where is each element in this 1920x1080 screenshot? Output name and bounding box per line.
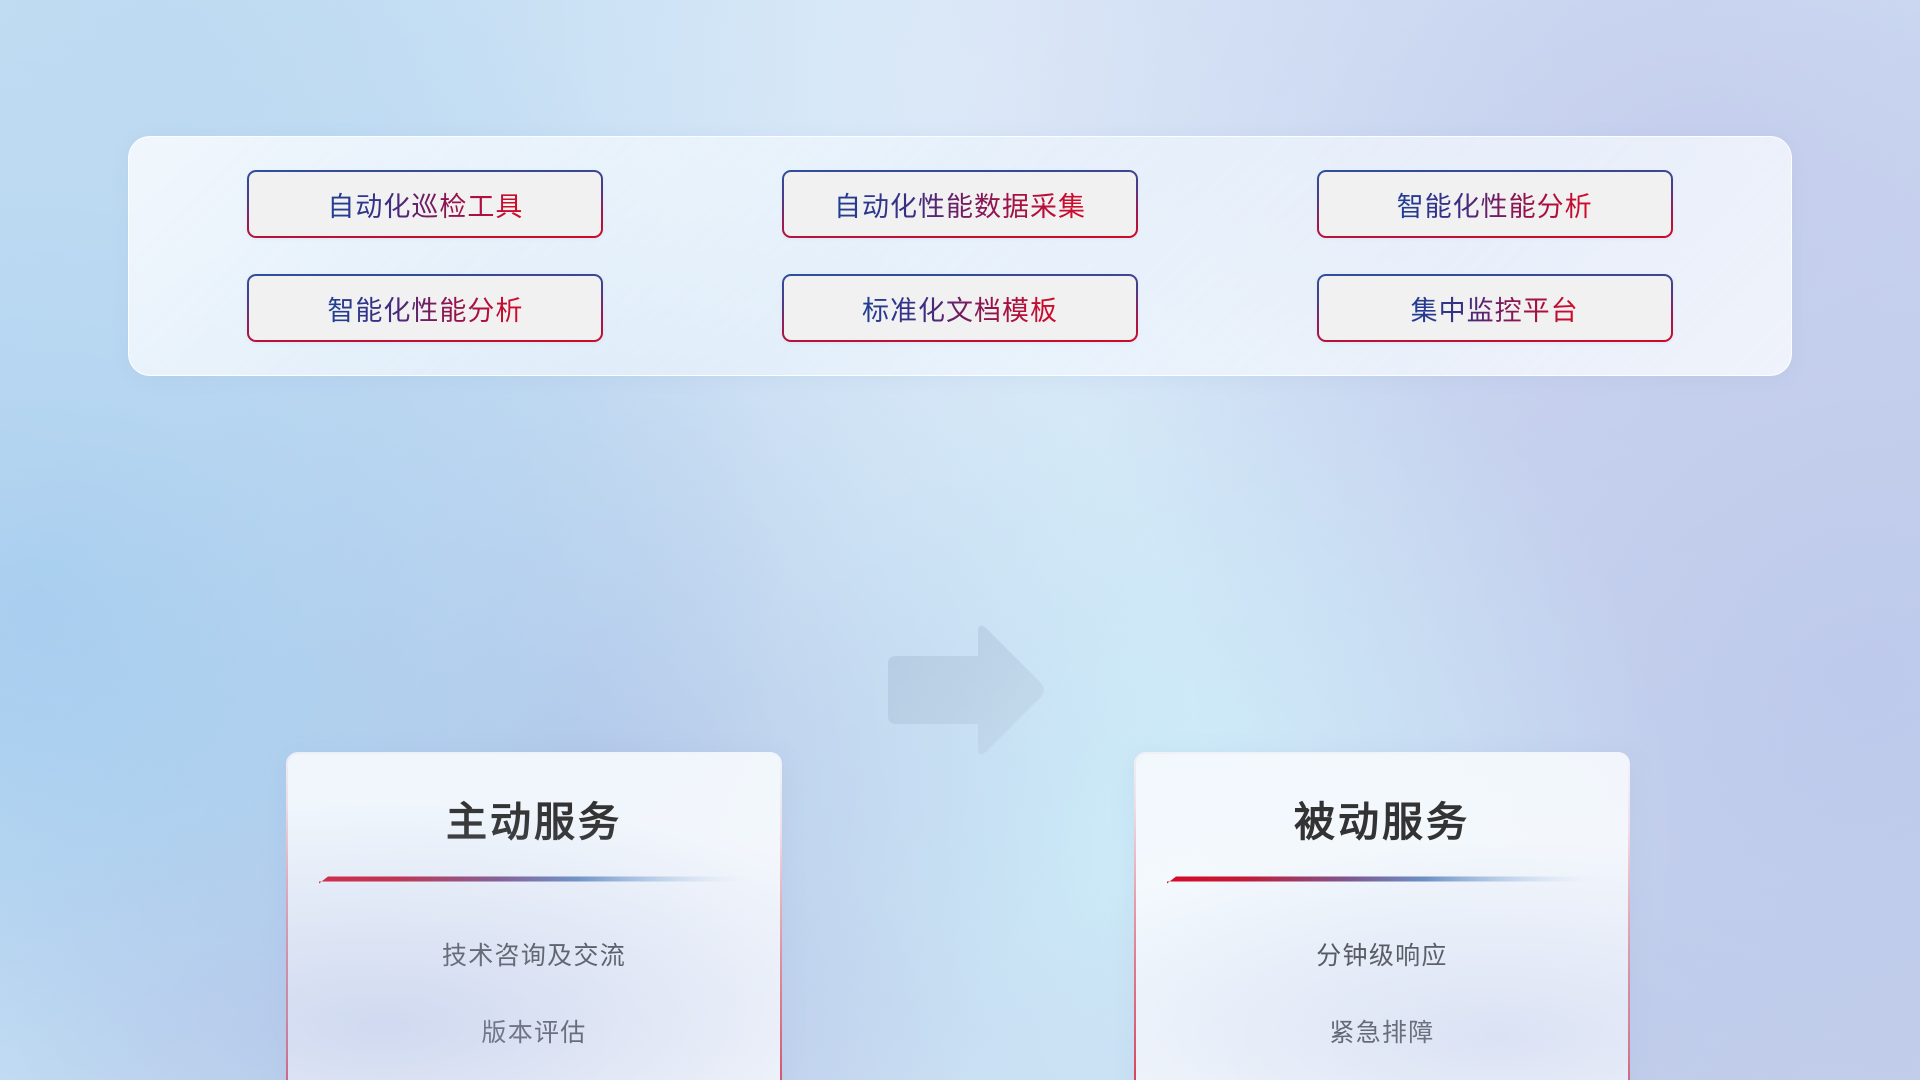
capability-chip-label: 标准化文档模板 bbox=[862, 289, 1058, 328]
capability-chip[interactable]: 标准化文档模板 bbox=[782, 274, 1138, 342]
capability-chip[interactable]: 智能化性能分析 bbox=[1317, 170, 1673, 238]
capability-chip[interactable]: 集中监控平台 bbox=[1317, 274, 1673, 342]
arrow-right-icon bbox=[880, 620, 1048, 760]
list-item: 紧急排障 bbox=[1158, 1007, 1606, 1060]
title-divider bbox=[319, 874, 749, 886]
capability-chip-label: 集中监控平台 bbox=[1411, 289, 1579, 328]
service-card-proactive[interactable]: 主动服务 技术咨询及交流 版本评估 性能检查 bbox=[286, 752, 782, 1080]
title-divider bbox=[1167, 874, 1597, 886]
capability-chip-label: 智能化性能分析 bbox=[327, 289, 523, 328]
diagram-canvas: 自动化巡检工具 自动化性能数据采集 智能化性能分析 智能化性能分析 标准化文档模… bbox=[0, 0, 1920, 1080]
service-item-list: 分钟级响应 紧急排障 值守保障 问题诊断解决 SLA式服务 bbox=[1134, 930, 1630, 1080]
capability-chip-label: 自动化巡检工具 bbox=[327, 185, 523, 224]
service-card-reactive[interactable]: 被动服务 分钟级响应 紧急排障 值守保障 bbox=[1134, 752, 1630, 1080]
capability-chip[interactable]: 自动化性能数据采集 bbox=[782, 170, 1138, 238]
capability-chip[interactable]: 自动化巡检工具 bbox=[247, 170, 603, 238]
list-item: 版本评估 bbox=[310, 1007, 758, 1060]
capability-chip-label: 智能化性能分析 bbox=[1397, 185, 1593, 224]
service-card-title: 被动服务 bbox=[1134, 788, 1630, 848]
list-item: 分钟级响应 bbox=[1158, 930, 1606, 983]
capability-chip-label: 自动化性能数据采集 bbox=[834, 185, 1086, 224]
capability-panel: 自动化巡检工具 自动化性能数据采集 智能化性能分析 智能化性能分析 标准化文档模… bbox=[128, 136, 1792, 376]
list-item: 技术咨询及交流 bbox=[310, 930, 758, 983]
capability-chip[interactable]: 智能化性能分析 bbox=[247, 274, 603, 342]
service-item-list: 技术咨询及交流 版本评估 性能检查 自动化监控与告警 健康巡检 bbox=[286, 930, 782, 1080]
service-card-title: 主动服务 bbox=[286, 788, 782, 848]
